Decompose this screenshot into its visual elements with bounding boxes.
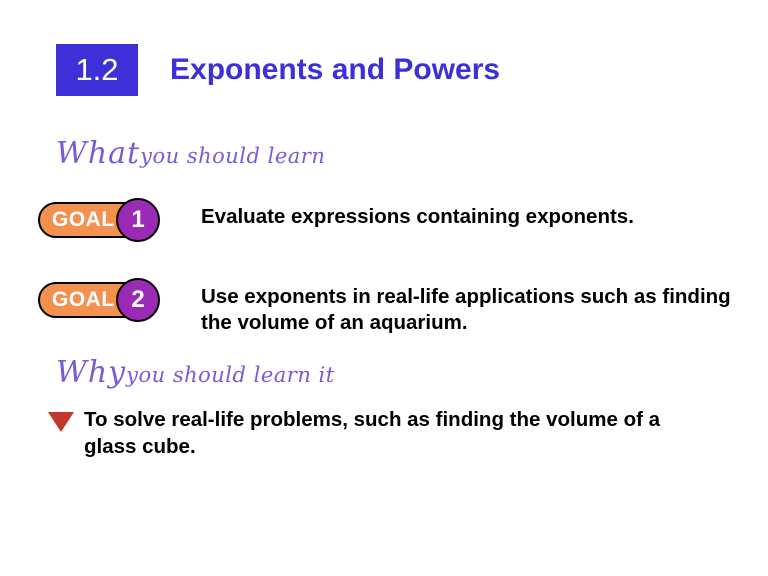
goal-label: GOAL <box>52 208 115 232</box>
what-subtext: you should learn <box>140 144 325 168</box>
why-bullet-row: To solve real-life problems, such as fin… <box>48 406 684 460</box>
goal-badge: GOAL 2 <box>38 278 193 322</box>
triangle-down-icon <box>48 412 74 432</box>
what-you-should-learn-header: Whatyou should learn <box>56 136 325 171</box>
title-row: 1.2 Exponents and Powers <box>56 44 500 96</box>
page-title: Exponents and Powers <box>170 53 500 87</box>
goal-number: 2 <box>131 286 144 314</box>
what-word: What <box>56 136 140 171</box>
slide-canvas: 1.2 Exponents and Powers Whatyou should … <box>0 0 768 576</box>
goal-row: GOAL 2 Use exponents in real-life applic… <box>38 278 761 336</box>
goal-row: GOAL 1 Evaluate expressions containing e… <box>38 198 634 242</box>
goal-number: 1 <box>131 206 144 234</box>
goal-text: Evaluate expressions containing exponent… <box>201 198 634 230</box>
goal-badge: GOAL 1 <box>38 198 193 242</box>
goal-number-circle: 1 <box>116 198 160 242</box>
goal-number-circle: 2 <box>116 278 160 322</box>
goal-label: GOAL <box>52 288 115 312</box>
why-you-should-learn-it-header: Whyyou should learn it <box>56 355 335 390</box>
section-number-badge: 1.2 <box>56 44 138 96</box>
why-subtext: you should learn it <box>126 363 335 387</box>
why-word: Why <box>56 355 126 390</box>
goal-text: Use exponents in real-life applications … <box>201 278 761 336</box>
why-bullet-text: To solve real-life problems, such as fin… <box>84 406 684 460</box>
